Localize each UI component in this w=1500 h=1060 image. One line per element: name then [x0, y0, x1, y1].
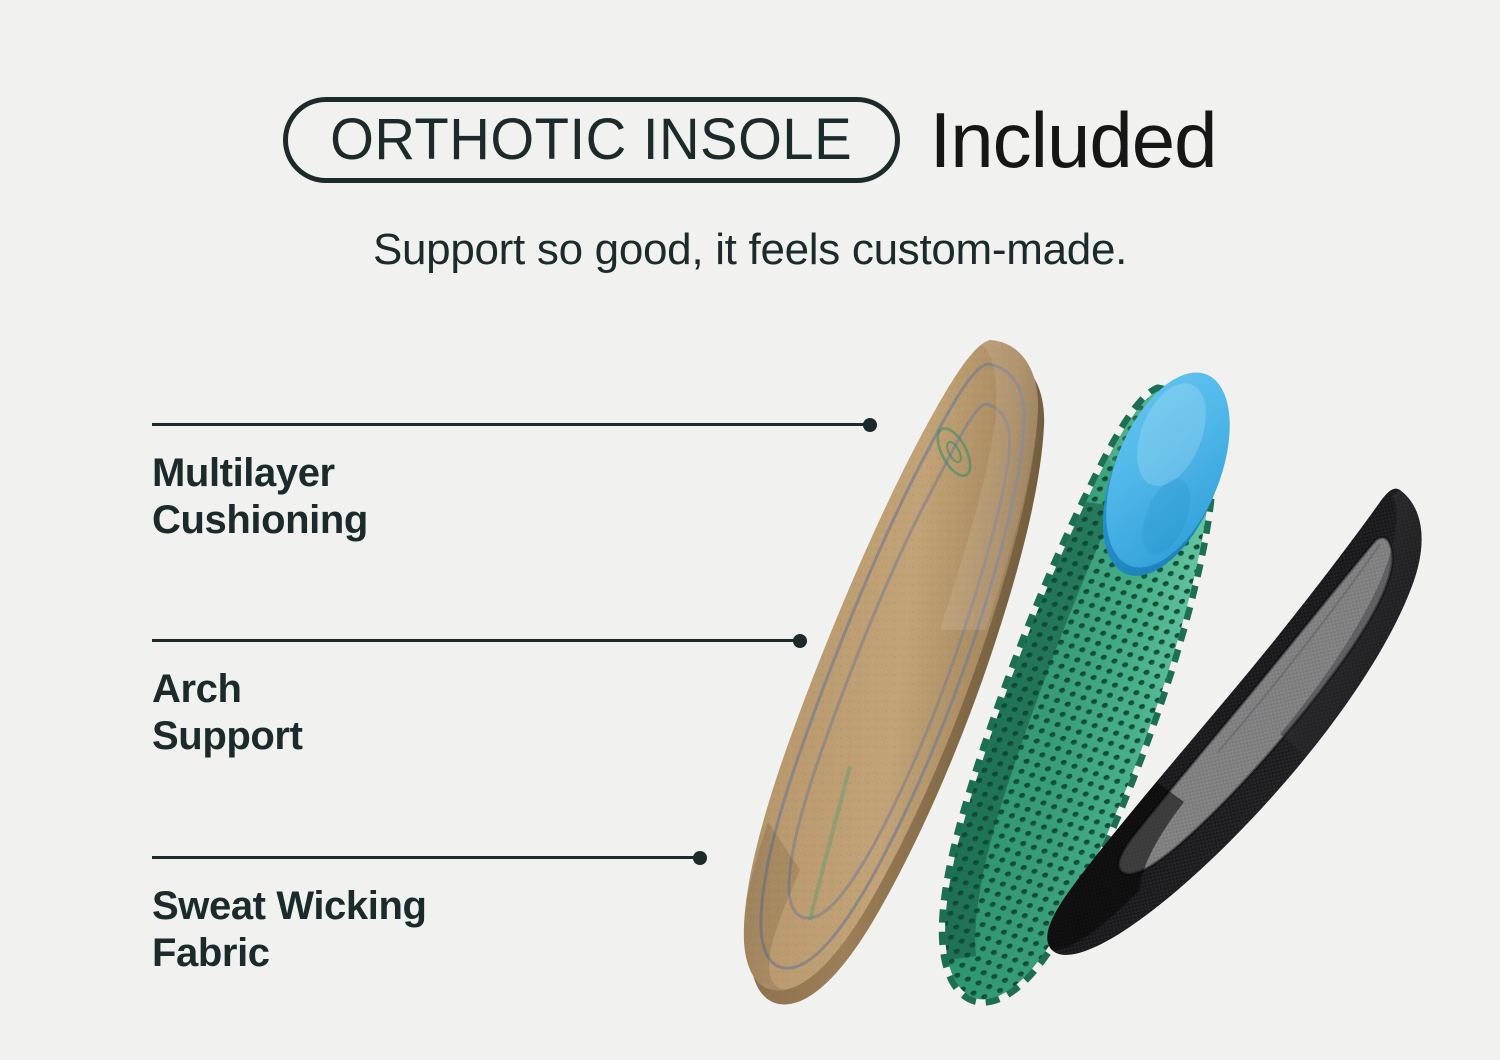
feature-callout-multilayer-cushioning: Multilayer Cushioning	[152, 418, 368, 544]
feature-callout-sweat-wicking-fabric: Sweat Wicking Fabric	[152, 851, 427, 977]
leader-line-bar	[152, 856, 700, 859]
subtitle: Support so good, it feels custom-made.	[0, 228, 1500, 272]
leader-line	[152, 418, 368, 432]
leader-line-dot	[693, 851, 707, 865]
badge-label: ORTHOTIC INSOLE	[331, 111, 853, 169]
leader-line-bar	[152, 639, 800, 642]
header: ORTHOTIC INSOLE Included Support so good…	[0, 86, 1500, 272]
feature-label: Arch Support	[152, 666, 303, 760]
headline-suffix: Included	[930, 101, 1217, 179]
orthotic-insole-badge: ORTHOTIC INSOLE	[283, 97, 899, 183]
feature-label: Multilayer Cushioning	[152, 450, 368, 544]
infographic-canvas: ORTHOTIC INSOLE Included Support so good…	[0, 0, 1500, 1060]
headline-row: ORTHOTIC INSOLE Included	[0, 86, 1500, 194]
leader-line	[152, 851, 427, 865]
product-image	[740, 330, 1440, 1030]
leader-line	[152, 634, 303, 648]
feature-label: Sweat Wicking Fabric	[152, 883, 427, 977]
feature-callout-arch-support: Arch Support	[152, 634, 303, 760]
